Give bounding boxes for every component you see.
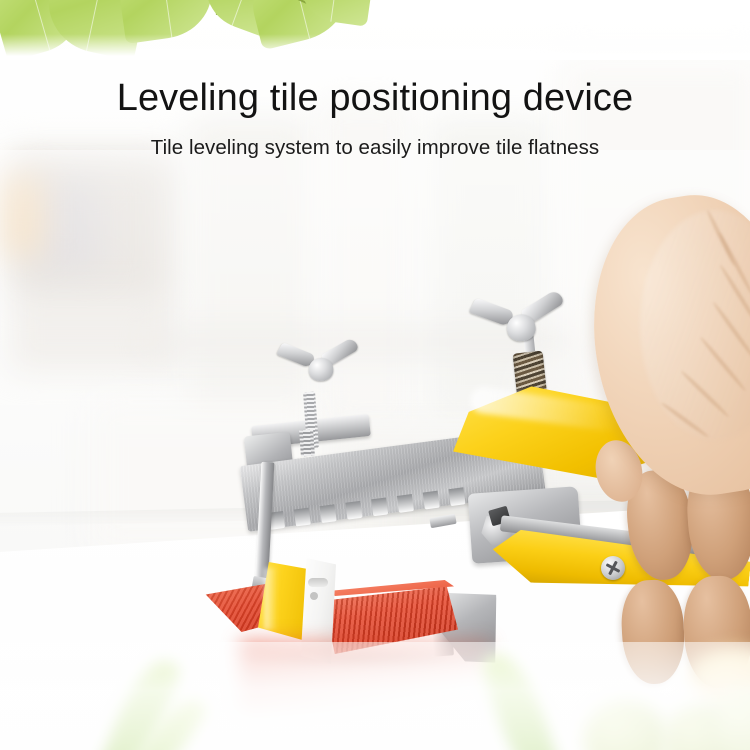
product-image-canvas: Leveling tile positioning device Tile le… (0, 0, 750, 750)
hand-gripping-tool (0, 0, 750, 750)
finger (619, 578, 686, 685)
red-wedge-blur-reflection (240, 640, 490, 710)
